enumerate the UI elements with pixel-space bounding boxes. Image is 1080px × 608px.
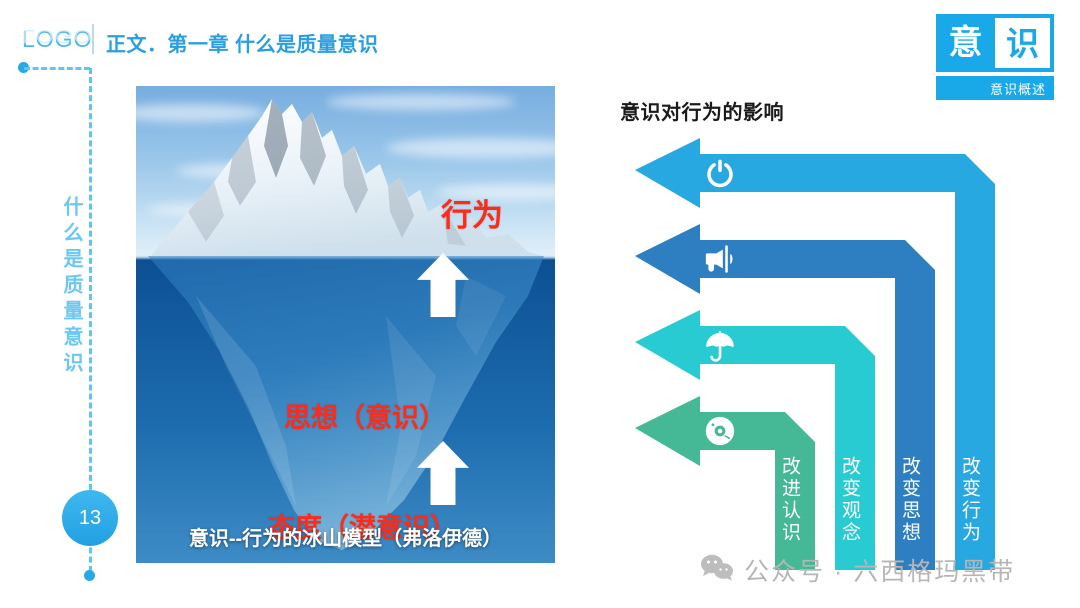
step-label-1: 改变行为: [960, 456, 979, 544]
rail-dot-bottom: [84, 570, 95, 581]
badge-subtitle: 意识概述: [990, 79, 1046, 98]
badge-char-1: 意: [936, 14, 995, 72]
section-badge: 意 识 意识概述: [936, 14, 1054, 100]
watermark-text: 公众号 · 六西格玛黑带: [744, 552, 1015, 588]
badge-main: 意 识: [936, 14, 1054, 72]
megaphone-icon: [703, 242, 737, 276]
step-label-4: 改进认识: [780, 456, 799, 544]
slide-canvas: LOGO LOGO 正文．第一章 什么是质量意识 意 识 意识概述 什么是质量意…: [0, 0, 1080, 608]
rail-line-vertical: [89, 68, 92, 508]
header-divider: [92, 24, 94, 54]
power-icon: [703, 156, 737, 190]
label-behavior: 行为: [441, 190, 503, 235]
badge-subtitle-bar: 意识概述: [936, 76, 1054, 100]
disc-icon: [703, 414, 737, 448]
image-caption: 意识--行为的冰山模型（弗洛伊德）: [136, 522, 555, 551]
badge-char-2-box: 识: [995, 18, 1050, 68]
logo-reflection: LOGO: [22, 25, 92, 48]
step-label-2: 改变思想: [900, 456, 919, 544]
wechat-icon: [700, 553, 734, 588]
diagram-title: 意识对行为的影响: [620, 96, 784, 125]
rail-line-horizontal: [24, 67, 90, 70]
sidebar-vertical-title: 什么是质量意识: [52, 196, 86, 378]
page-number-badge: 13: [62, 490, 118, 546]
iceberg-image: 行为 思想（意识） 态度（潜意识） 意识--行为的冰山模型（弗洛伊德）: [136, 86, 555, 563]
page-title: 正文．第一章 什么是质量意识: [106, 28, 379, 57]
bent-arrow-diagram: 改进认识 改变观念 改变思想 改变行为: [615, 130, 1080, 570]
umbrella-icon: [703, 328, 737, 362]
badge-char-2: 识: [1006, 27, 1039, 60]
step-label-3: 改变观念: [840, 456, 859, 544]
label-thought: 思想（意识）: [284, 396, 446, 435]
watermark: 公众号 · 六西格玛黑带: [700, 552, 1015, 588]
